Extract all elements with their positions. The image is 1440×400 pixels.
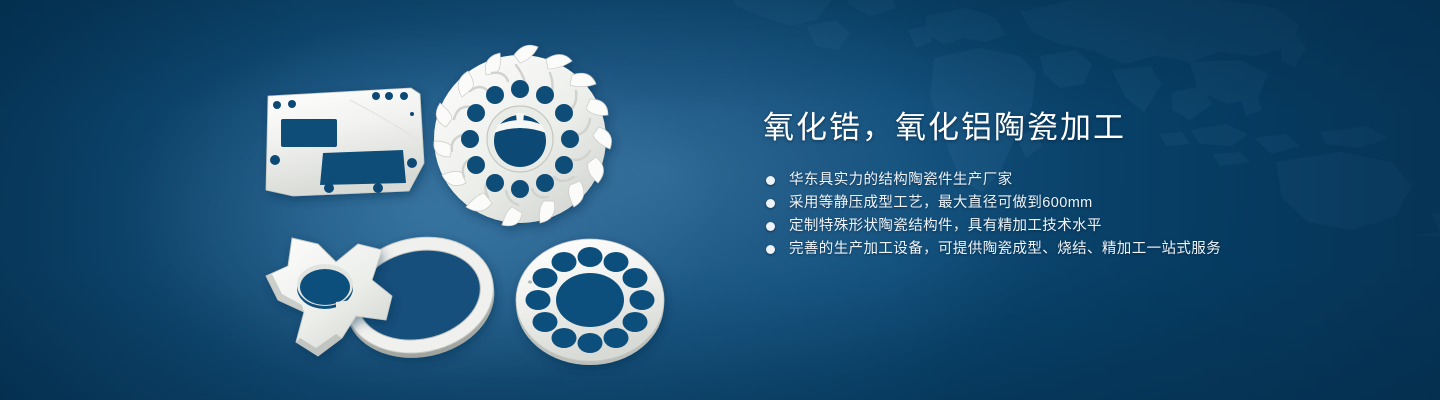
bullet-dot-icon [766,176,775,185]
list-item-label: 完善的生产加工设备，可提供陶瓷成型、烧结、精加工一站式服务 [789,241,1221,257]
bullet-dot-icon [766,199,775,208]
list-item: 定制特殊形状陶瓷结构件，具有精加工技术水平 [763,218,1363,234]
banner-copy: 氧化锆，氧化铝陶瓷加工 华东具实力的结构陶瓷件生产厂家 采用等静压成型工艺，最大… [763,108,1363,264]
list-item: 完善的生产加工设备，可提供陶瓷成型、烧结、精加工一站式服务 [763,241,1363,257]
list-item-label: 华东具实力的结构陶瓷件生产厂家 [789,172,1013,188]
part-hole-ring-disc [516,239,664,365]
product-photo [0,0,720,400]
bullet-dot-icon [766,222,775,231]
list-item-label: 采用等静压成型工艺，最大直径可做到600mm [789,195,1093,211]
feature-list: 华东具实力的结构陶瓷件生产厂家 采用等静压成型工艺，最大直径可做到600mm 定… [763,172,1363,257]
list-item-label: 定制特殊形状陶瓷结构件，具有精加工技术水平 [789,218,1102,234]
list-item: 采用等静压成型工艺，最大直径可做到600mm [763,195,1363,211]
list-item: 华东具实力的结构陶瓷件生产厂家 [763,172,1363,188]
page-title: 氧化锆，氧化铝陶瓷加工 [763,108,1363,148]
bullet-dot-icon [766,245,775,254]
part-perforated-plate [266,88,424,196]
hero-banner: 氧化锆，氧化铝陶瓷加工 华东具实力的结构陶瓷件生产厂家 采用等静压成型工艺，最大… [0,0,1440,400]
